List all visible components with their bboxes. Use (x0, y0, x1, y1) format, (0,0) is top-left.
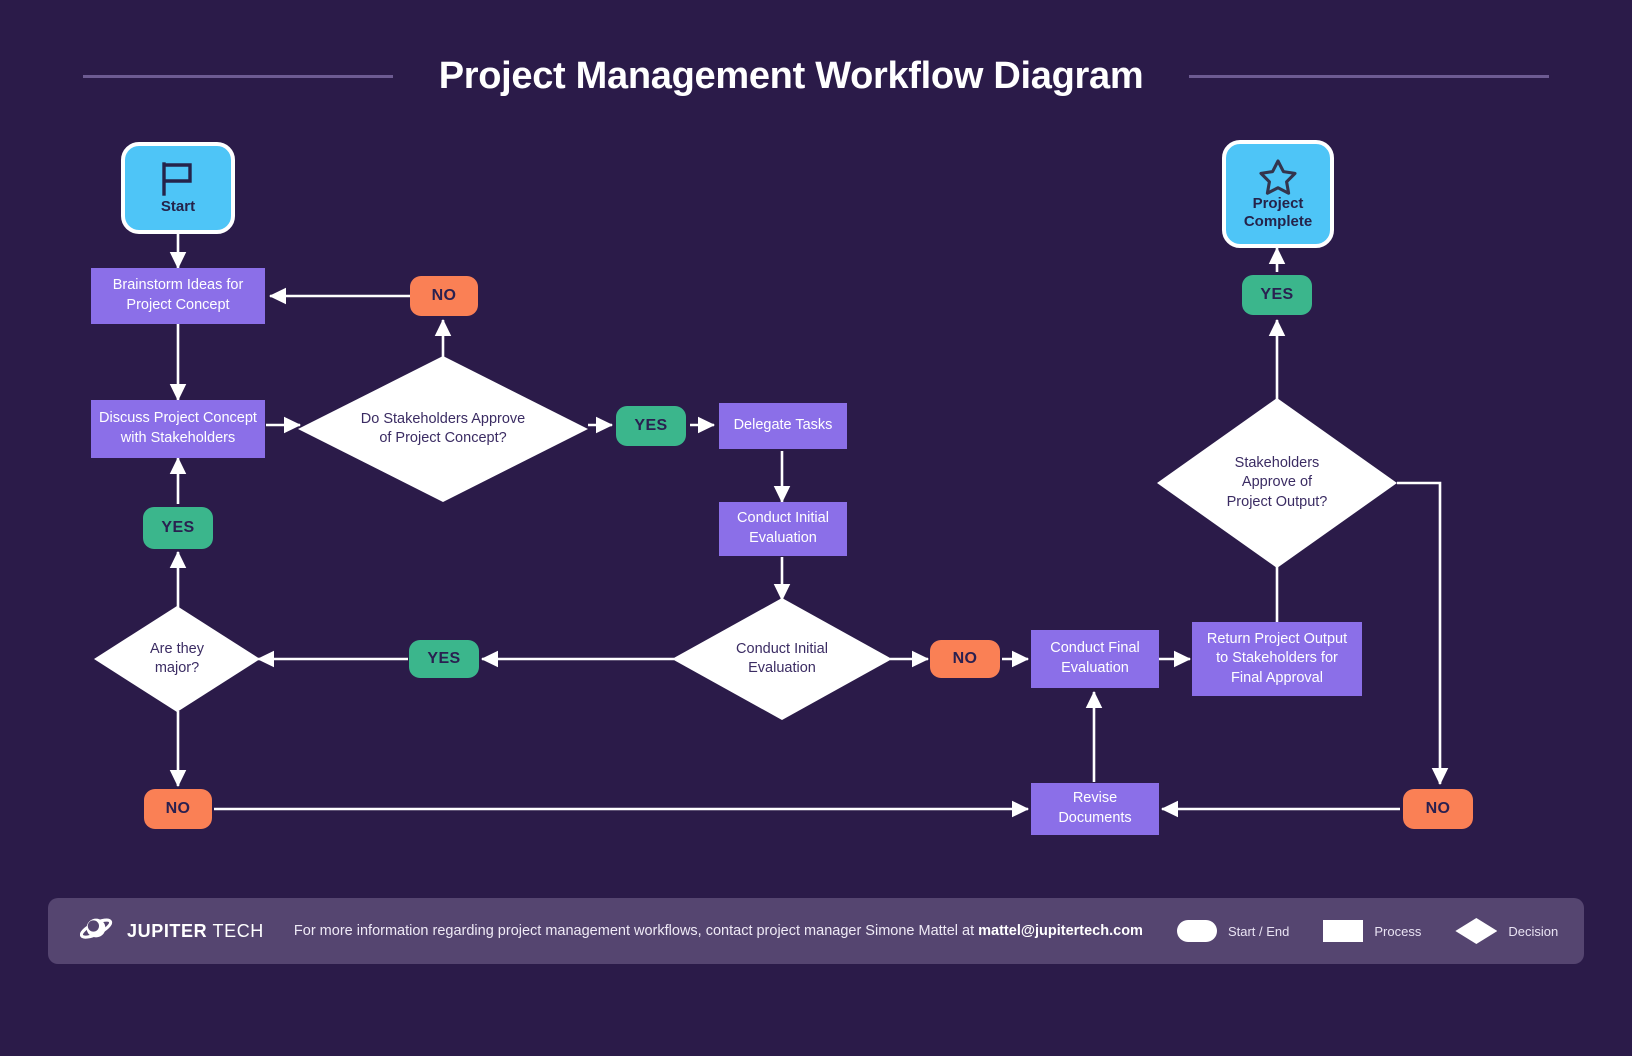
node-discuss-label: Discuss Project Concept with Stakeholder… (99, 409, 257, 448)
edge-badge-label: YES (1260, 286, 1293, 304)
brand: JUPITER TECH (80, 914, 264, 949)
node-project-complete-label-line1: Project (1253, 195, 1304, 213)
node-decision-conduct-initial-evaluation-label: Conduct Initial Evaluation (672, 598, 892, 720)
node-decision-are-they-major-label: Are they major? (94, 606, 260, 712)
legend-swatch-rounded-rect-icon (1177, 920, 1217, 942)
node-decision-concept-approval-label: Do Stakeholders Approve of Project Conce… (298, 356, 588, 502)
node-project-complete-label-line2: Complete (1244, 213, 1312, 231)
edge-badge-label: NO (953, 650, 978, 668)
footer: JUPITER TECH For more information regard… (48, 898, 1584, 964)
node-discuss[interactable]: Discuss Project Concept with Stakeholder… (91, 400, 265, 458)
footer-note: For more information regarding project m… (294, 923, 1143, 939)
node-start[interactable]: Start (121, 142, 235, 234)
edge-badge-eval-no[interactable]: NO (930, 640, 1000, 678)
brand-name-light: TECH (213, 921, 264, 941)
node-conduct-initial-evaluation[interactable]: Conduct Initial Evaluation (719, 502, 847, 556)
edge-badge-discuss-yes[interactable]: YES (143, 507, 213, 549)
edge-badge-concept-no[interactable]: NO (410, 276, 478, 316)
node-conduct-initial-evaluation-label: Conduct Initial Evaluation (727, 509, 839, 548)
footer-note-text: For more information regarding project m… (294, 923, 978, 939)
node-brainstorm[interactable]: Brainstorm Ideas for Project Concept (91, 268, 265, 324)
edge-badge-label: YES (427, 650, 460, 668)
node-conduct-final-evaluation-label: Conduct Final Evaluation (1039, 639, 1151, 678)
node-return-project-output[interactable]: Return Project Output to Stakeholders fo… (1192, 622, 1362, 696)
page-title: Project Management Workflow Diagram (393, 55, 1190, 98)
node-decision-concept-approval[interactable]: Do Stakeholders Approve of Project Conce… (298, 356, 588, 502)
diagram-canvas: Project Management Workflow Diagram (0, 0, 1632, 1056)
header-rule-left (83, 75, 393, 78)
edge-badge-label: NO (166, 800, 191, 818)
node-revise-documents-label: Revise Documents (1039, 789, 1151, 828)
legend-item-label: Process (1374, 924, 1421, 939)
edge-badge-output-no[interactable]: NO (1403, 789, 1473, 829)
legend-swatch-diamond-icon (1455, 918, 1497, 944)
legend: Start / End Process Decision (1143, 918, 1558, 944)
node-decision-output-approval-label: Stakeholders Approve of Project Output? (1157, 398, 1397, 568)
node-delegate-tasks[interactable]: Delegate Tasks (719, 403, 847, 449)
legend-item-decision: Decision (1455, 918, 1558, 944)
legend-item-process: Process (1323, 920, 1421, 942)
edge-badge-label: NO (432, 287, 457, 305)
star-icon (1258, 157, 1298, 195)
node-conduct-final-evaluation[interactable]: Conduct Final Evaluation (1031, 630, 1159, 688)
node-project-complete[interactable]: Project Complete (1222, 140, 1334, 248)
legend-item-label: Decision (1508, 924, 1558, 939)
node-start-label: Start (161, 198, 195, 216)
edge-badge-label: YES (634, 417, 667, 435)
node-revise-documents[interactable]: Revise Documents (1031, 783, 1159, 835)
contact-email-link[interactable]: mattel@jupitertech.com (978, 923, 1143, 939)
node-delegate-tasks-label: Delegate Tasks (734, 416, 833, 436)
edge-badge-label: NO (1426, 800, 1451, 818)
edge-badge-major-no[interactable]: NO (144, 789, 212, 829)
edge-badge-concept-yes[interactable]: YES (616, 406, 686, 446)
node-decision-conduct-initial-evaluation[interactable]: Conduct Initial Evaluation (672, 598, 892, 720)
header-rule-right (1189, 75, 1549, 78)
jupiter-planet-logo-icon (80, 914, 114, 949)
node-decision-output-approval[interactable]: Stakeholders Approve of Project Output? (1157, 398, 1397, 568)
edge-badge-output-yes[interactable]: YES (1242, 275, 1312, 315)
edge-badge-label: YES (161, 519, 194, 537)
header: Project Management Workflow Diagram (0, 44, 1632, 108)
node-return-project-output-label: Return Project Output to Stakeholders fo… (1200, 630, 1354, 689)
legend-item-start-end: Start / End (1177, 920, 1289, 942)
node-decision-are-they-major[interactable]: Are they major? (94, 606, 260, 712)
edge-badge-eval-yes[interactable]: YES (409, 640, 479, 678)
wire-decision-output-to-no (1397, 483, 1440, 784)
node-brainstorm-label: Brainstorm Ideas for Project Concept (99, 276, 257, 315)
brand-name: JUPITER TECH (127, 921, 264, 942)
legend-item-label: Start / End (1228, 924, 1289, 939)
brand-name-bold: JUPITER (127, 921, 207, 941)
legend-swatch-rect-icon (1323, 920, 1363, 942)
flag-icon (157, 160, 199, 198)
